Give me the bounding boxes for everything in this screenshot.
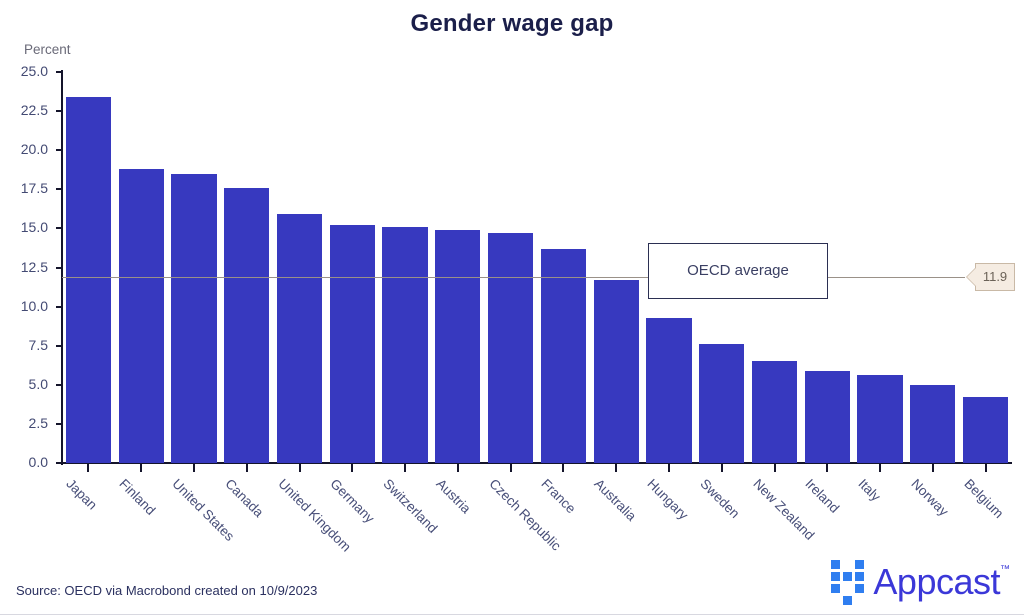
y-tick-text: 12.5 — [21, 259, 48, 275]
bar[interactable] — [805, 371, 850, 463]
y-tick-text: 7.5 — [29, 337, 48, 353]
x-axis-label: Japan — [64, 476, 101, 513]
y-tick-label: 22.5 — [21, 102, 48, 120]
bar[interactable] — [277, 214, 322, 463]
bar[interactable] — [330, 225, 375, 463]
x-axis-label: Italy — [855, 476, 883, 504]
y-tick-text: 15.0 — [21, 219, 48, 235]
logo-square — [855, 560, 864, 569]
logo-square — [855, 596, 864, 605]
y-tick-label: 0.0 — [29, 454, 48, 472]
y-tick-text: 2.5 — [29, 415, 48, 431]
x-tick-mark — [404, 464, 406, 472]
y-tick-text: 10.0 — [21, 298, 48, 314]
y-tick-label: 5.0 — [29, 376, 48, 394]
y-tick-label: 12.5 — [21, 259, 48, 277]
bar[interactable] — [171, 174, 216, 463]
x-axis-label: Canada — [222, 476, 266, 520]
y-tick-text: 5.0 — [29, 376, 48, 392]
x-tick-mark — [879, 464, 881, 472]
logo-square — [831, 572, 840, 581]
x-tick-mark — [932, 464, 934, 472]
x-axis-label: Austria — [433, 476, 473, 516]
y-tick-label: 15.0 — [21, 219, 48, 237]
bar[interactable] — [435, 230, 480, 463]
logo-square — [855, 584, 864, 593]
logo-square — [843, 560, 852, 569]
y-tick-text: 17.5 — [21, 180, 48, 196]
plot-area — [62, 72, 1012, 463]
x-axis-label: Ireland — [803, 476, 843, 516]
x-tick-mark — [826, 464, 828, 472]
bar[interactable] — [66, 97, 111, 463]
x-axis-label: Norway — [908, 476, 951, 519]
x-tick-mark — [615, 464, 617, 472]
page-title: Gender wage gap — [0, 10, 1024, 38]
y-tick-label: 20.0 — [21, 141, 48, 159]
x-axis-label: Sweden — [697, 476, 742, 521]
chart-page: { "chart_data": { "type": "bar", "title"… — [0, 0, 1024, 615]
y-tick-label: 17.5 — [21, 180, 48, 198]
logo-square — [843, 572, 852, 581]
x-axis-label: Germany — [328, 476, 378, 526]
x-tick-mark — [193, 464, 195, 472]
x-axis-label: Switzerland — [380, 476, 440, 536]
y-tick-label: 7.5 — [29, 337, 48, 355]
appcast-logo: Appcast ™ — [831, 560, 1010, 604]
bar[interactable] — [752, 361, 797, 463]
x-axis-label: Australia — [592, 476, 640, 524]
x-tick-mark — [721, 464, 723, 472]
oecd-average-value: 11.9 — [983, 269, 1007, 284]
bar[interactable] — [382, 227, 427, 463]
y-tick-label: 25.0 — [21, 63, 48, 81]
y-tick-label: 2.5 — [29, 415, 48, 433]
bar[interactable] — [857, 375, 902, 463]
x-tick-mark — [87, 464, 89, 472]
x-axis-label: Hungary — [644, 476, 691, 523]
badge-arrow-icon — [967, 268, 976, 286]
y-tick-text: 22.5 — [21, 102, 48, 118]
logo-square — [831, 584, 840, 593]
x-axis-label: Finland — [117, 476, 159, 518]
x-tick-mark — [774, 464, 776, 472]
y-axis-ticks: 25.022.520.017.515.012.510.07.55.02.50.0 — [0, 0, 56, 615]
oecd-average-line — [62, 277, 965, 279]
bar[interactable] — [119, 169, 164, 463]
bar[interactable] — [541, 249, 586, 463]
x-tick-mark — [562, 464, 564, 472]
oecd-average-callout: OECD average — [648, 243, 828, 299]
oecd-average-label: OECD average — [687, 262, 789, 279]
x-tick-mark — [246, 464, 248, 472]
bar[interactable] — [910, 385, 955, 463]
bar[interactable] — [963, 397, 1008, 463]
y-tick-label: 10.0 — [21, 298, 48, 316]
bar[interactable] — [646, 318, 691, 463]
y-tick-text: 20.0 — [21, 141, 48, 157]
trademark-symbol: ™ — [1000, 564, 1010, 575]
logo-square — [855, 572, 864, 581]
bar[interactable] — [699, 344, 744, 463]
appcast-wordmark: Appcast — [873, 564, 1000, 600]
logo-square — [843, 584, 852, 593]
y-tick-text: 0.0 — [29, 454, 48, 470]
x-tick-mark — [140, 464, 142, 472]
bar[interactable] — [488, 233, 533, 463]
x-axis-label: Belgium — [961, 476, 1006, 521]
oecd-average-value-badge: 11.9 — [975, 263, 1015, 291]
logo-square — [843, 596, 852, 605]
x-tick-mark — [351, 464, 353, 472]
bar[interactable] — [224, 188, 269, 463]
x-tick-mark — [299, 464, 301, 472]
bar[interactable] — [594, 280, 639, 463]
y-tick-text: 25.0 — [21, 63, 48, 79]
appcast-grid-icon — [831, 560, 864, 605]
x-tick-mark — [985, 464, 987, 472]
x-tick-mark — [668, 464, 670, 472]
logo-square — [831, 596, 840, 605]
logo-square — [831, 560, 840, 569]
source-note: Source: OECD via Macrobond created on 10… — [16, 583, 317, 598]
x-tick-mark — [457, 464, 459, 472]
x-tick-mark — [510, 464, 512, 472]
x-axis-label: France — [539, 476, 579, 516]
